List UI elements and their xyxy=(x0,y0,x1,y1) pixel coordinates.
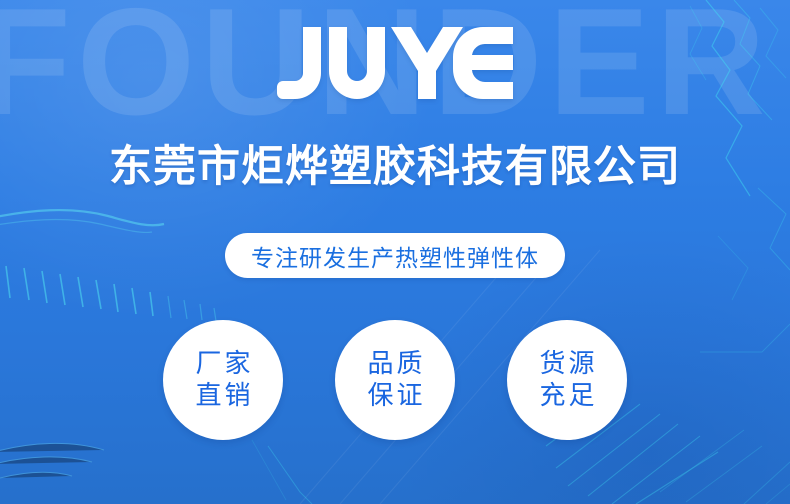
feature-circle-line1: 厂家 xyxy=(192,348,253,380)
feature-circle-line2: 充足 xyxy=(536,380,597,412)
juye-logo-icon xyxy=(277,27,513,103)
feature-circle-ample-supply: 货源 充足 xyxy=(507,320,627,440)
slogan-badge-wrapper: 专注研发生产热塑性弹性体 xyxy=(0,233,790,278)
brand-logo xyxy=(0,24,790,106)
slogan-badge: 专注研发生产热塑性弹性体 xyxy=(225,233,565,278)
feature-circle-group: 厂家 直销 品质 保证 货源 充足 xyxy=(0,320,790,440)
slogan-text: 专注研发生产热塑性弹性体 xyxy=(251,239,539,273)
company-name: 东莞市炬烨塑胶科技有限公司 xyxy=(0,140,790,194)
feature-circle-line1: 品质 xyxy=(364,348,425,380)
feature-circle-line2: 保证 xyxy=(364,380,425,412)
feature-circle-quality-guarantee: 品质 保证 xyxy=(335,320,455,440)
feature-circle-line1: 货源 xyxy=(536,348,597,380)
feature-circle-factory-direct: 厂家 直销 xyxy=(163,320,283,440)
feature-circle-line2: 直销 xyxy=(192,380,253,412)
promo-banner: FOUNDER xyxy=(0,0,790,504)
